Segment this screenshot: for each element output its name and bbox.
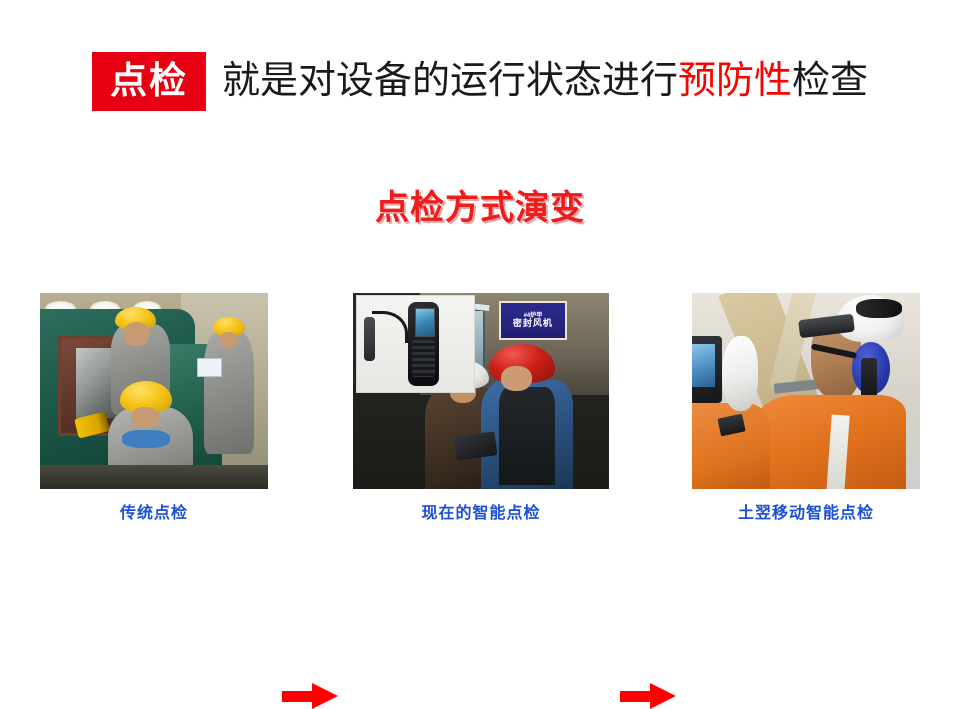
- arrow-step-2-to-3: [620, 683, 676, 709]
- photo2-equipment-sign: #4炉甲 密封风机: [499, 301, 567, 340]
- photo2-worker-a-face: [501, 366, 532, 391]
- photo3-white-glove: [722, 336, 758, 410]
- photo-mobile-smart-inspection: [692, 293, 920, 489]
- photo2-pda-screen: [415, 308, 435, 337]
- headline-row: 点检 就是对设备的运行状态进行预防性检查: [0, 46, 960, 116]
- photo3-helmet-mount: [856, 299, 902, 319]
- photo-handheld-smart-inspection: #4炉甲 密封风机: [353, 293, 609, 489]
- photo3-mobile-terminal-screen: [692, 344, 715, 387]
- photo1-worker-1-face: [124, 322, 149, 346]
- photo1-worker-3-face: [220, 332, 238, 348]
- caption-current-smart-inspection: 现在的智能点检: [353, 505, 609, 523]
- photo2-scene: #4炉甲 密封风机: [353, 293, 609, 489]
- photo1-worker-3-body: [204, 332, 254, 454]
- evolution-strip: #4炉甲 密封风机: [0, 293, 960, 493]
- photo1-floor: [40, 465, 268, 489]
- photo1-worker-2-face: [131, 407, 158, 429]
- headline-text-tail: 检查: [792, 60, 868, 102]
- photo2-inset-product-shot: [356, 295, 476, 393]
- photo1-scene: [40, 293, 268, 489]
- photo1-worker-2-collar: [122, 430, 170, 448]
- headline-text: 就是对设备的运行状态进行预防性检查: [222, 62, 868, 100]
- photo2-sign-line-2: 密封风机: [513, 319, 553, 328]
- arrow-step-1-to-2: [282, 683, 338, 709]
- headline-text-lead: 就是对设备的运行状态进行: [222, 60, 678, 102]
- caption-traditional-inspection: 传统点检: [40, 505, 268, 523]
- slide-root: { "slide": { "background_color": "#fffff…: [0, 0, 960, 533]
- photo2-worker-vest: [499, 387, 555, 485]
- arrow-head-icon: [650, 683, 676, 709]
- caption-mobile-smart-inspection: 土翌移动智能点检: [692, 505, 920, 523]
- photo1-clipboard: [197, 358, 222, 378]
- photo2-probe-cable: [372, 311, 408, 343]
- arrow-shaft: [620, 691, 654, 702]
- photo3-scene: [692, 293, 920, 489]
- section-title: 点检方式演变: [0, 190, 960, 227]
- arrow-head-icon: [312, 683, 338, 709]
- photo2-pda-keypad: [412, 340, 436, 376]
- photo-traditional-inspection: [40, 293, 268, 489]
- arrow-shaft: [282, 691, 316, 702]
- headline-text-highlight: 预防性: [678, 60, 792, 102]
- headline-badge: 点检: [92, 52, 206, 111]
